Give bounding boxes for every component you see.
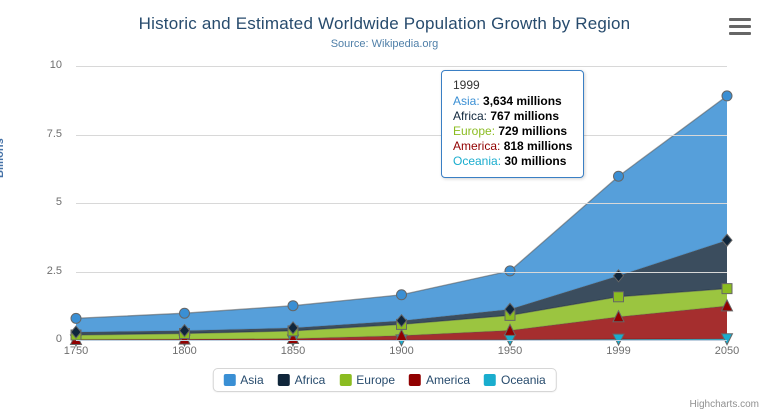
- legend-label: Oceania: [501, 373, 546, 387]
- gridline: [76, 203, 727, 204]
- chart-title: Historic and Estimated Worldwide Populat…: [0, 14, 769, 34]
- tooltip-header: 1999: [453, 78, 572, 92]
- data-point-europe[interactable]: [614, 292, 624, 302]
- legend-label: Africa: [295, 373, 326, 387]
- x-axis-tick-label: 1999: [589, 345, 649, 357]
- legend-swatch: [409, 374, 421, 386]
- data-point-asia[interactable]: [722, 91, 732, 101]
- menu-bar: [729, 32, 751, 35]
- y-axis-title: Billions: [0, 138, 6, 178]
- tooltip-series-value: 729 millions: [498, 124, 567, 138]
- gridline: [76, 340, 727, 341]
- tooltip-row-asia: Asia: 3,634 millions: [453, 94, 572, 109]
- data-point-asia[interactable]: [614, 171, 624, 181]
- tooltip-series-name: Europe:: [453, 124, 498, 138]
- legend-swatch: [484, 374, 496, 386]
- legend-label: America: [426, 373, 470, 387]
- y-axis-tick-label: 0: [18, 333, 62, 345]
- data-point-asia[interactable]: [288, 301, 298, 311]
- legend[interactable]: AsiaAfricaEuropeAmericaOceania: [212, 368, 556, 392]
- x-axis-tick-label: 1750: [46, 345, 106, 357]
- data-point-europe[interactable]: [722, 284, 732, 294]
- tooltip-series-value: 818 millions: [504, 139, 573, 153]
- tooltip-row-europe: Europe: 729 millions: [453, 124, 572, 139]
- data-point-asia[interactable]: [180, 308, 190, 318]
- plot-area: [76, 66, 727, 340]
- x-axis-tick-label: 1900: [372, 345, 432, 357]
- legend-label: Asia: [240, 373, 263, 387]
- tooltip-series-name: America:: [453, 139, 504, 153]
- highcharts-area-chart: Historic and Estimated Worldwide Populat…: [0, 0, 769, 416]
- tooltip-series-name: Africa:: [453, 109, 490, 123]
- tooltip-row-africa: Africa: 767 millions: [453, 109, 572, 124]
- legend-item-america[interactable]: America: [409, 373, 470, 387]
- tooltip-series-name: Asia:: [453, 94, 483, 108]
- hamburger-menu-icon[interactable]: [729, 18, 751, 36]
- data-point-asia[interactable]: [397, 290, 407, 300]
- gridline: [76, 66, 727, 67]
- tooltip-row-oceania: Oceania: 30 millions: [453, 154, 572, 169]
- tooltip-series-name: Oceania:: [453, 154, 504, 168]
- x-axis-tick-label: 1850: [263, 345, 323, 357]
- x-axis-tick-label: 1800: [155, 345, 215, 357]
- legend-item-europe[interactable]: Europe: [339, 373, 395, 387]
- x-axis-tick-label: 2050: [697, 345, 757, 357]
- legend-label: Europe: [356, 373, 395, 387]
- gridline: [76, 272, 727, 273]
- credits-label[interactable]: Highcharts.com: [690, 399, 759, 410]
- y-axis-tick-label: 7.5: [18, 128, 62, 140]
- tooltip-series-value: 30 millions: [504, 154, 566, 168]
- tooltip: 1999 Asia: 3,634 millionsAfrica: 767 mil…: [441, 70, 584, 178]
- tooltip-row-america: America: 818 millions: [453, 139, 572, 154]
- chart-subtitle: Source: Wikipedia.org: [0, 38, 769, 50]
- legend-swatch: [223, 374, 235, 386]
- legend-swatch: [339, 374, 351, 386]
- y-axis-tick-label: 10: [18, 59, 62, 71]
- x-axis-tick-label: 1950: [480, 345, 540, 357]
- gridline: [76, 135, 727, 136]
- menu-bar: [729, 18, 751, 21]
- legend-item-asia[interactable]: Asia: [223, 373, 263, 387]
- tooltip-series-value: 767 millions: [490, 109, 559, 123]
- menu-bar: [729, 25, 751, 28]
- legend-item-africa[interactable]: Africa: [278, 373, 326, 387]
- y-axis-tick-label: 5: [18, 196, 62, 208]
- tooltip-series-value: 3,634 millions: [483, 94, 562, 108]
- legend-item-oceania[interactable]: Oceania: [484, 373, 546, 387]
- y-axis-tick-label: 2.5: [18, 265, 62, 277]
- legend-swatch: [278, 374, 290, 386]
- data-point-asia[interactable]: [71, 313, 81, 323]
